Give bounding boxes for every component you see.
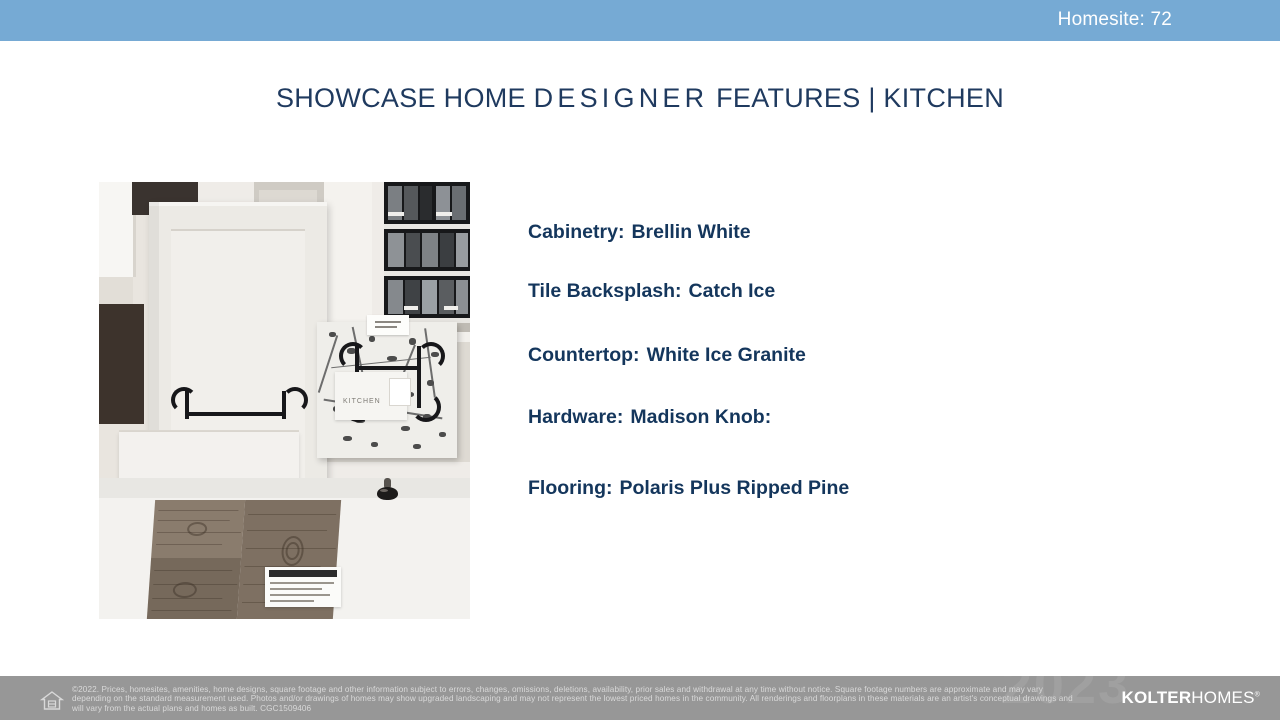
legal-disclaimer: ©2022. Prices, homesites, amenities, hom…: [72, 685, 1082, 713]
logo-light-part: HOMES: [1191, 688, 1254, 707]
equal-housing-opportunity-icon: [40, 690, 64, 711]
photo-knob-highlight: [380, 489, 388, 492]
feature-value: Madison Knob:: [630, 406, 771, 428]
page-title: SHOWCASE HOME DESIGNER FEATURES | KITCHE…: [0, 83, 1280, 114]
feature-row: Cabinetry:Brellin White: [528, 221, 751, 244]
photo-flooring-spec-card: [265, 567, 341, 607]
feature-label: Flooring:: [528, 477, 612, 499]
feature-label: Hardware:: [528, 406, 623, 428]
feature-row: Flooring:Polaris Plus Ripped Pine: [528, 477, 849, 500]
photo-granite-tag: [367, 315, 409, 335]
photo-floor-sheen: [99, 478, 470, 498]
kitchen-selections-photo: KITCHEN: [99, 182, 470, 619]
feature-row: Tile Backsplash:Catch Ice: [528, 280, 775, 303]
photo-iron-crossbar: [185, 412, 285, 416]
homesite-label: Homesite: 72: [1058, 9, 1172, 31]
logo-registered-mark: ®: [1255, 691, 1260, 698]
feature-row: Countertop:White Ice Granite: [528, 344, 806, 367]
feature-value: White Ice Granite: [647, 344, 806, 366]
photo-mini-swatch-card: [389, 378, 411, 406]
photo-wall-frame: [99, 182, 136, 277]
title-part-2: FEATURES | KITCHEN: [708, 83, 1004, 113]
photo-kitchen-sign-text: KITCHEN: [343, 398, 381, 405]
feature-row: Hardware:Madison Knob:: [528, 406, 771, 429]
photo-dark-panel-left: [99, 304, 144, 424]
title-part-1: SHOWCASE HOME: [276, 83, 534, 113]
title-part-designer: DESIGNER: [534, 83, 709, 113]
feature-value: Brellin White: [631, 221, 750, 243]
feature-label: Cabinetry:: [528, 221, 624, 243]
feature-label: Tile Backsplash:: [528, 280, 682, 302]
feature-label: Countertop:: [528, 344, 640, 366]
photo-drawer-front: [119, 432, 299, 480]
feature-value: Polaris Plus Ripped Pine: [619, 477, 849, 499]
kolter-homes-logo: KOLTERHOMES®: [1121, 688, 1260, 708]
logo-bold-part: KOLTER: [1121, 688, 1191, 707]
feature-value: Catch Ice: [689, 280, 776, 302]
